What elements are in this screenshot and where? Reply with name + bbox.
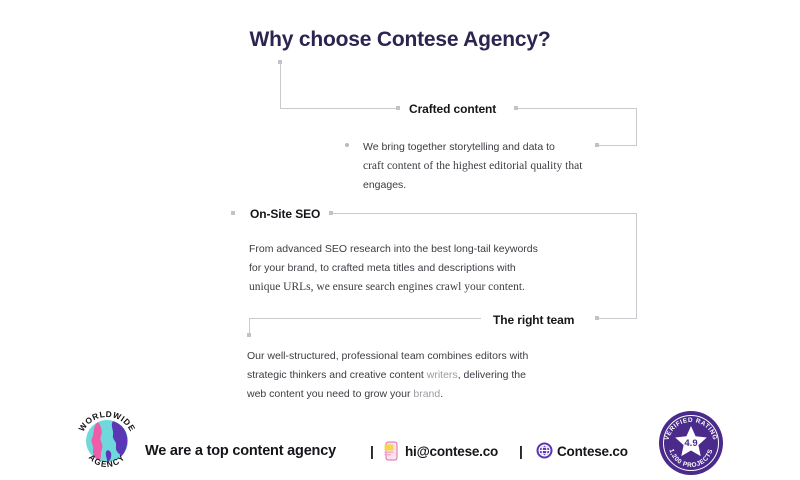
rating-score: 4.9 <box>684 438 697 449</box>
footer-website[interactable]: Contese.co <box>557 444 628 459</box>
body-line: We bring together storytelling and data … <box>363 138 623 157</box>
phone-icon <box>383 441 399 466</box>
body-text-muted: writers <box>427 369 458 381</box>
connector-dot-team-stub <box>247 333 251 337</box>
section-body-crafted-content: We bring together storytelling and data … <box>363 138 623 195</box>
connector-line-crafted-vertical <box>280 64 281 108</box>
footer-separator-1: | <box>370 443 374 459</box>
body-text: , delivering the <box>458 369 526 381</box>
body-text: web content you need to grow your <box>247 388 413 400</box>
body-line-with-accent: web content you need to grow your brand. <box>247 385 577 404</box>
connector-dot-seo-left <box>231 211 235 215</box>
section-heading-on-site-seo: On-Site SEO <box>250 207 320 221</box>
slide-canvas: Why choose Contese Agency? Crafted conte… <box>0 0 800 480</box>
connector-line-team-right <box>599 318 637 319</box>
bullet-dot-crafted <box>345 143 349 147</box>
worldwide-agency-logo: WORLDWIDE AGENCY <box>72 406 142 476</box>
footer-separator-2: | <box>519 443 523 459</box>
section-heading-the-right-team: The right team <box>493 313 574 327</box>
connector-line-seo-top <box>333 213 637 214</box>
body-line: Our well-structured, professional team c… <box>247 347 577 366</box>
connector-line-team-left <box>249 318 481 319</box>
body-line: craft content of the highest editorial q… <box>363 157 623 176</box>
body-line: unique URLs, we ensure search engines cr… <box>249 278 579 297</box>
footer-tagline: We are a top content agency <box>145 443 336 459</box>
page-title: Why choose Contese Agency? <box>0 28 800 52</box>
section-body-the-right-team: Our well-structured, professional team c… <box>247 347 577 404</box>
connector-line-seo-vertical <box>636 213 637 319</box>
body-text-muted: brand <box>413 388 440 400</box>
section-heading-crafted-content: Crafted content <box>409 102 496 116</box>
body-line: engages. <box>363 176 623 195</box>
connector-line-crafted-left <box>280 108 398 109</box>
connector-line-crafted-right <box>518 108 637 109</box>
body-line: for your brand, to crafted meta titles a… <box>249 259 579 278</box>
body-text: strategic thinkers and creative content <box>247 369 427 381</box>
globe-icon <box>536 442 553 464</box>
body-text: . <box>440 388 443 400</box>
body-line: From advanced SEO research into the best… <box>249 240 579 259</box>
body-line-with-accent: strategic thinkers and creative content … <box>247 366 577 385</box>
connector-dot-crafted-left <box>396 106 400 110</box>
verified-rating-badge: 4.9 VERIFIED RATING 1,200 PROJECTS <box>658 410 724 476</box>
section-body-on-site-seo: From advanced SEO research into the best… <box>249 240 579 297</box>
connector-line-crafted-right-vertical <box>636 108 637 146</box>
footer-email[interactable]: hi@contese.co <box>405 444 498 459</box>
